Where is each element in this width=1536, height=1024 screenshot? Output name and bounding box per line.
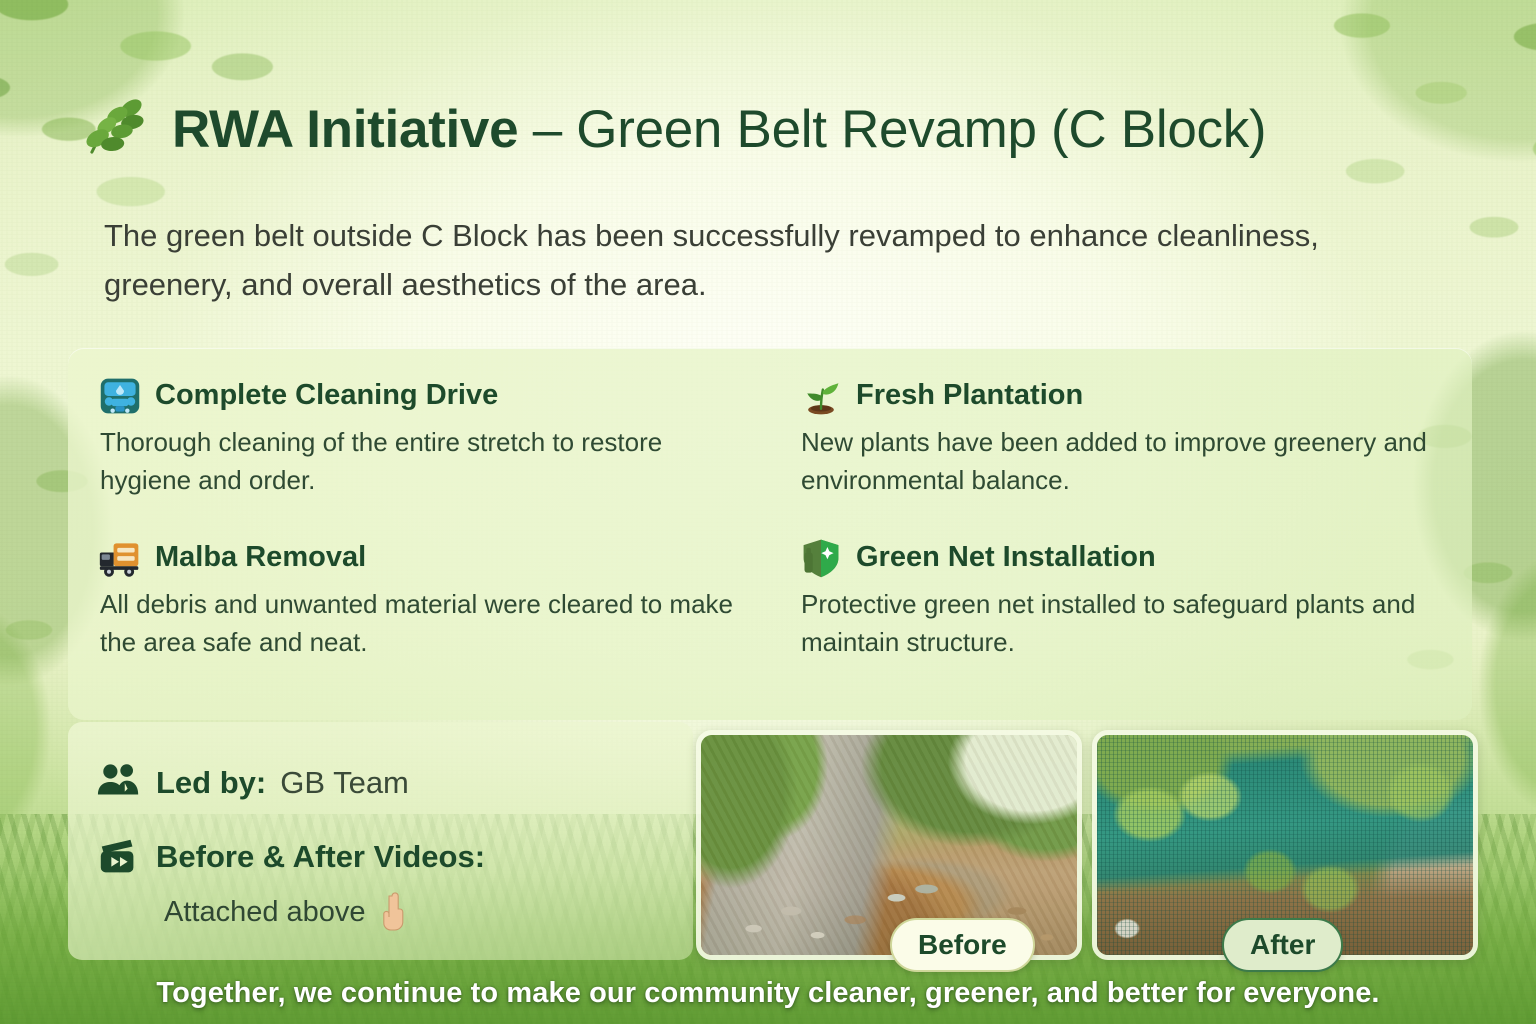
videos-value-row: Attached above [164, 892, 412, 932]
before-caption-badge: Before [890, 918, 1035, 972]
videos-row: Before & After Videos: [96, 834, 485, 880]
feature-card-malba-removal: Malba Removal All debris and unwanted ma… [98, 536, 745, 698]
feature-header: Malba Removal [98, 536, 745, 580]
feature-description: Protective green net installed to safegu… [799, 586, 1438, 661]
led-by-value: GB Team [280, 765, 409, 801]
herb-leaf-icon [78, 92, 152, 166]
feature-card-cleaning: Complete Cleaning Drive Thorough cleanin… [98, 374, 745, 536]
feature-title: Green Net Installation [856, 542, 1156, 574]
poster-canvas: RWA Initiative – Green Belt Revamp (C Bl… [0, 0, 1536, 1024]
led-by-label: Led by: [156, 765, 266, 801]
pointing-up-hand-icon [378, 892, 412, 932]
footer-tagline: Together, we continue to make our commun… [0, 977, 1536, 1010]
feature-header: Green Net Installation [799, 536, 1438, 580]
feature-header: Complete Cleaning Drive [98, 374, 745, 418]
feature-title: Fresh Plantation [856, 380, 1083, 412]
feature-header: Fresh Plantation [799, 374, 1438, 418]
soap-cleaning-icon [98, 374, 142, 418]
delivery-truck-icon [98, 536, 142, 580]
feature-title: Complete Cleaning Drive [155, 380, 498, 412]
features-panel: Complete Cleaning Drive Thorough cleanin… [68, 348, 1472, 720]
video-camera-icon [96, 834, 142, 880]
page-title-rest: – Green Belt Revamp (C Block) [518, 100, 1266, 159]
feature-description: All debris and unwanted material were cl… [98, 586, 745, 661]
after-caption-badge: After [1222, 918, 1343, 972]
feature-description: Thorough cleaning of the entire stretch … [98, 424, 745, 499]
feature-description: New plants have been added to improve gr… [799, 424, 1438, 499]
led-by-row: Led by: GB Team [96, 760, 409, 806]
two-people-icon [96, 760, 142, 806]
intro-paragraph: The green belt outside C Block has been … [104, 212, 1434, 310]
seedling-icon [799, 374, 843, 418]
shield-net-icon [799, 536, 843, 580]
feature-card-green-net: Green Net Installation Protective green … [791, 536, 1438, 698]
feature-title: Malba Removal [155, 542, 366, 574]
videos-value: Attached above [164, 896, 366, 929]
videos-label: Before & After Videos: [156, 839, 485, 875]
header: RWA Initiative – Green Belt Revamp (C Bl… [78, 92, 1266, 166]
page-title-strong: RWA Initiative [172, 100, 518, 159]
page-title: RWA Initiative – Green Belt Revamp (C Bl… [172, 103, 1266, 156]
feature-card-plantation: Fresh Plantation New plants have been ad… [791, 374, 1438, 536]
info-panel: Led by: GB Team Before & After Videos: A… [68, 722, 693, 960]
